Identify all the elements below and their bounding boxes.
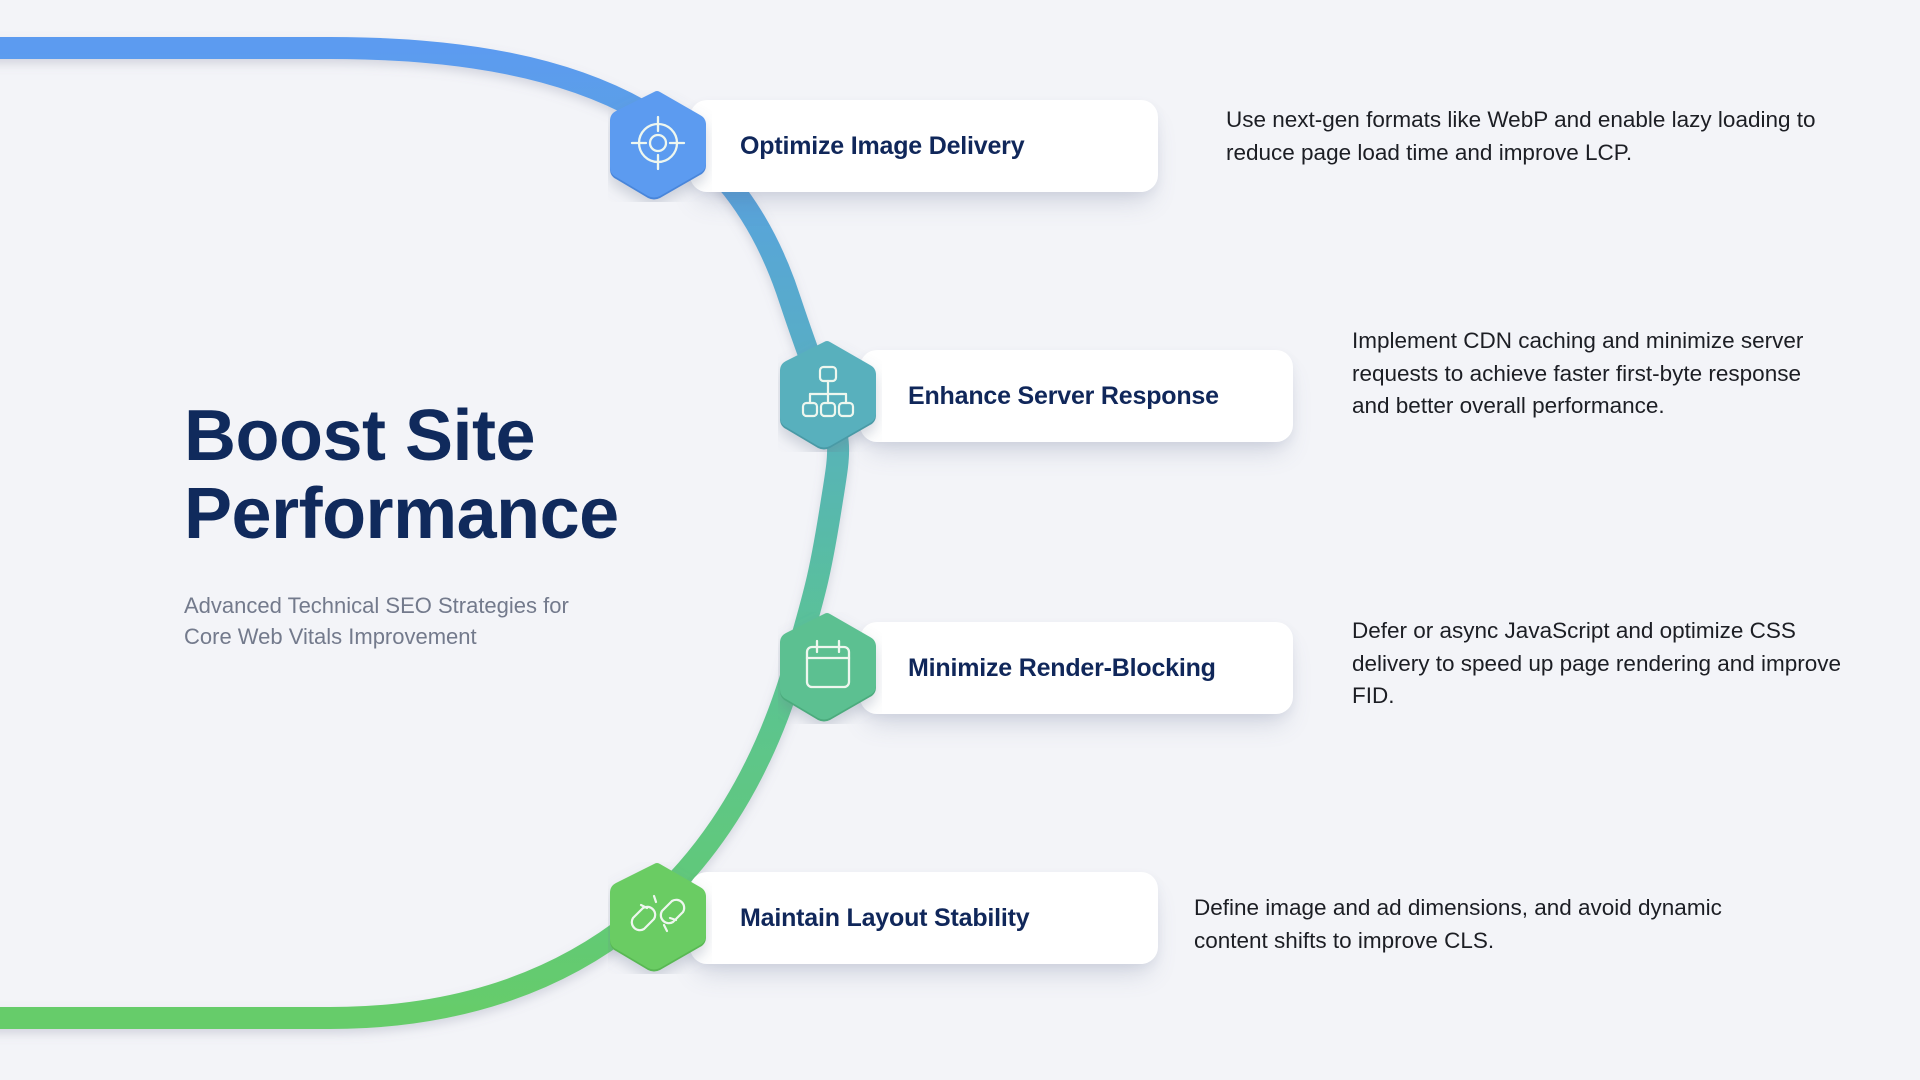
step-description: Implement CDN caching and minimize serve… [1352, 325, 1832, 423]
infographic-canvas: Boost Site Performance Advanced Technica… [0, 0, 1920, 1080]
page-subtitle: Advanced Technical SEO Strategies for Co… [184, 590, 704, 654]
headline-block: Boost Site Performance Advanced Technica… [184, 398, 704, 653]
step-card[interactable]: Maintain Layout Stability [690, 872, 1158, 964]
step-node-1[interactable] [608, 90, 712, 202]
step-card[interactable]: Minimize Render-Blocking [860, 622, 1293, 714]
step-title: Maintain Layout Stability [740, 904, 1029, 933]
step-description: Use next-gen formats like WebP and enabl… [1226, 104, 1866, 169]
page-title: Boost Site Performance [184, 398, 704, 554]
step-title: Minimize Render-Blocking [908, 654, 1216, 683]
step-description: Defer or async JavaScript and optimize C… [1352, 615, 1852, 713]
step-card[interactable]: Optimize Image Delivery [690, 100, 1158, 192]
step-node-3[interactable] [778, 612, 882, 724]
step-node-2[interactable] [778, 340, 882, 452]
step-node-4[interactable] [608, 862, 712, 974]
step-title: Enhance Server Response [908, 382, 1219, 411]
step-card[interactable]: Enhance Server Response [860, 350, 1293, 442]
step-title: Optimize Image Delivery [740, 132, 1024, 161]
step-description: Define image and ad dimensions, and avoi… [1194, 892, 1774, 957]
